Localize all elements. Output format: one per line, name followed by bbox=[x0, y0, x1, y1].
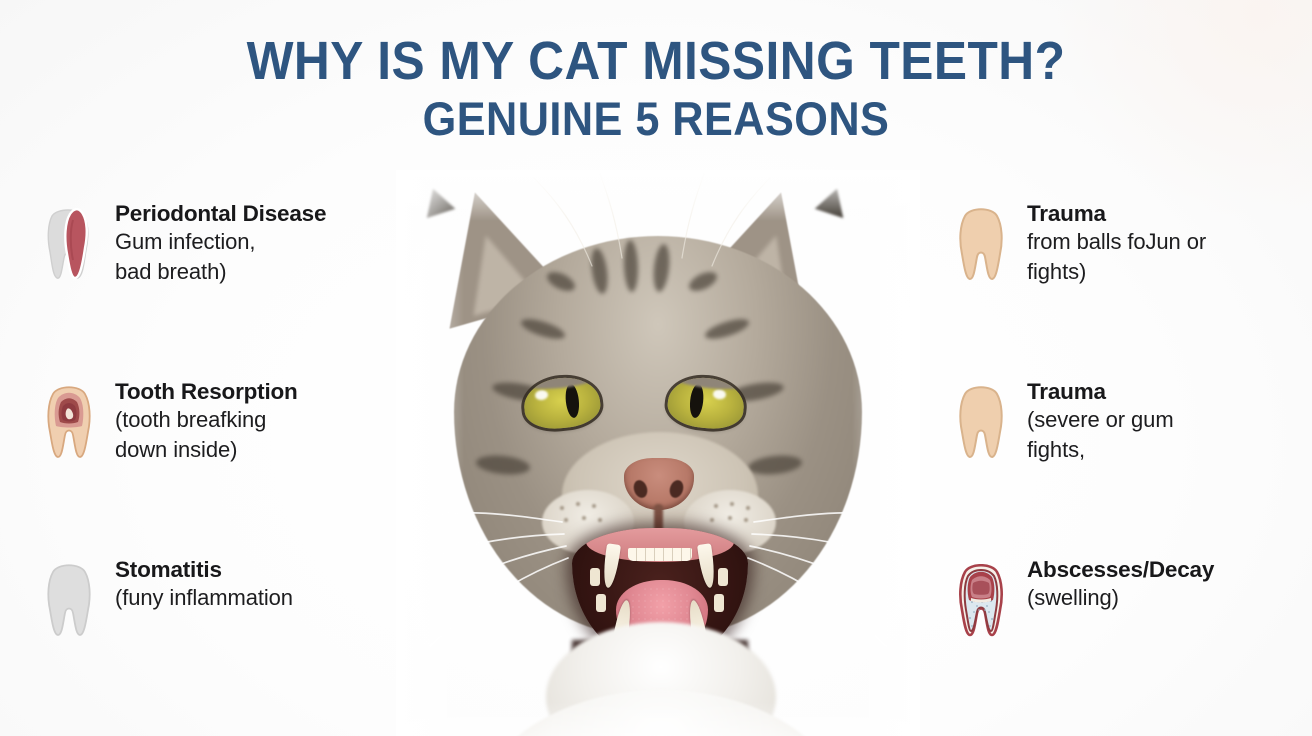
title-line-1: WHY IS MY CAT MISSING TEETH? bbox=[52, 34, 1259, 89]
infographic-poster: WHY IS MY CAT MISSING TEETH? GENUINE 5 R… bbox=[0, 0, 1312, 736]
reason-desc-line: fights, bbox=[1027, 435, 1174, 464]
reason-text: Abscesses/Decay (swelling) bbox=[1027, 552, 1214, 613]
reason-title: Periodontal Disease bbox=[115, 200, 326, 227]
tooth-periodontal-icon bbox=[43, 208, 95, 282]
reason-title: Trauma bbox=[1027, 200, 1206, 227]
reason-desc-line: bad breath) bbox=[115, 257, 326, 286]
reason-text: Trauma from balls foJun or fights) bbox=[1027, 196, 1206, 286]
reason-text: Tooth Resorption (tooth breafking down i… bbox=[115, 374, 298, 464]
tooth-plain-tan-icon bbox=[955, 386, 1007, 460]
tooth-plain-icon bbox=[43, 564, 95, 638]
reason-desc-line: (severe or gum bbox=[1027, 405, 1174, 434]
reason-text: Trauma (severe or gum fights, bbox=[1027, 374, 1174, 464]
reasons-column-left: Periodontal Disease Gum infection, bad b… bbox=[43, 196, 393, 638]
reason-desc-line: fights) bbox=[1027, 257, 1206, 286]
reason-desc-line: (funy inflammation bbox=[115, 583, 293, 612]
reason-item-abscesses-decay: Abscesses/Decay (swelling) bbox=[955, 552, 1295, 638]
reason-title: Trauma bbox=[1027, 378, 1174, 405]
reason-desc-line: Gum infection, bbox=[115, 227, 326, 256]
reason-desc-line: from balls foJun or bbox=[1027, 227, 1206, 256]
photo-edge-fade bbox=[396, 170, 920, 736]
poster-title: WHY IS MY CAT MISSING TEETH? GENUINE 5 R… bbox=[0, 34, 1312, 143]
reason-title: Abscesses/Decay bbox=[1027, 556, 1214, 583]
reason-desc-line: (swelling) bbox=[1027, 583, 1214, 612]
tooth-abscess-icon bbox=[955, 564, 1007, 638]
tooth-plain-tan-icon bbox=[955, 208, 1007, 282]
reason-item-tooth-resorption: Tooth Resorption (tooth breafking down i… bbox=[43, 374, 393, 552]
reason-desc-line: (tooth breafking bbox=[115, 405, 298, 434]
reason-item-stomatitis: Stomatitis (funy inflammation bbox=[43, 552, 393, 638]
tooth-resorption-icon bbox=[43, 386, 95, 460]
reason-item-trauma-play: Trauma from balls foJun or fights) bbox=[955, 196, 1295, 374]
reason-text: Periodontal Disease Gum infection, bad b… bbox=[115, 196, 326, 286]
cat-photo bbox=[396, 170, 920, 736]
reason-desc-line: down inside) bbox=[115, 435, 298, 464]
reason-title: Stomatitis bbox=[115, 556, 293, 583]
title-line-2: GENUINE 5 REASONS bbox=[52, 95, 1259, 143]
reason-title: Tooth Resorption bbox=[115, 378, 298, 405]
reason-text: Stomatitis (funy inflammation bbox=[115, 552, 293, 613]
reasons-column-right: Trauma from balls foJun or fights) Traum… bbox=[955, 196, 1295, 638]
reason-item-trauma-severe: Trauma (severe or gum fights, bbox=[955, 374, 1295, 552]
reason-item-periodontal-disease: Periodontal Disease Gum infection, bad b… bbox=[43, 196, 393, 374]
